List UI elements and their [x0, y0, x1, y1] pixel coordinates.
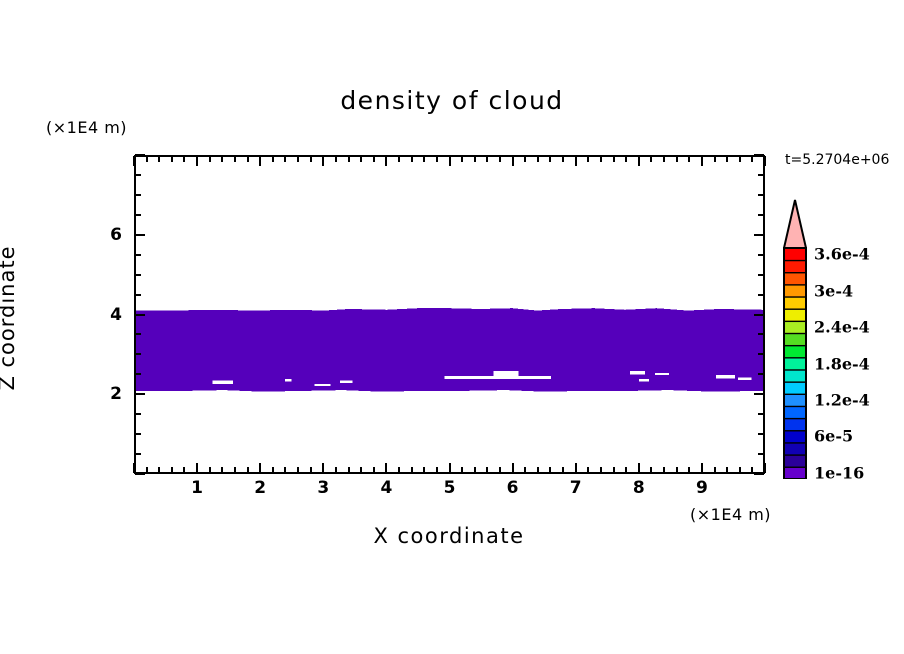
x-tick [676, 467, 678, 473]
x-tick [335, 156, 337, 162]
x-axis-unit-label: (×1E4 m) [690, 505, 771, 524]
y-tick [135, 353, 141, 355]
x-tick [297, 467, 299, 473]
y-tick [135, 234, 145, 236]
time-annotation: t=5.2704e+06 [785, 152, 889, 168]
x-tick [284, 467, 286, 473]
x-tick [310, 156, 312, 162]
y-tick [758, 194, 764, 196]
x-tick [587, 156, 589, 162]
y-tick [135, 154, 145, 156]
x-tick [133, 463, 135, 473]
x-tick [398, 467, 400, 473]
x-tick [549, 156, 551, 162]
colorbar[interactable] [783, 199, 807, 479]
x-tick [209, 156, 211, 162]
x-tick [385, 463, 387, 473]
cloud-void [444, 376, 551, 379]
x-tick-label: 9 [696, 478, 708, 498]
x-tick [158, 467, 160, 473]
colorbar-band [784, 297, 806, 310]
x-tick [272, 156, 274, 162]
x-tick [474, 467, 476, 473]
x-tick [764, 156, 766, 166]
x-tick [436, 467, 438, 473]
x-tick [398, 156, 400, 162]
y-tick [758, 274, 764, 276]
y-tick [758, 333, 764, 335]
x-tick [310, 467, 312, 473]
colorbar-tick-label: 3.6e-4 [814, 245, 870, 264]
colorbar-band [784, 284, 806, 297]
colorbar-band [784, 382, 806, 395]
y-tick [758, 433, 764, 435]
x-tick [600, 156, 602, 162]
colorbar-tick-label: 3e-4 [814, 281, 853, 300]
x-tick [638, 463, 640, 473]
x-tick [411, 156, 413, 162]
x-axis-title: X coordinate [234, 524, 664, 548]
y-tick [754, 393, 764, 395]
x-tick [436, 156, 438, 162]
x-tick [373, 156, 375, 162]
x-tick [549, 467, 551, 473]
colorbar-band [784, 345, 806, 358]
colorbar-band [784, 321, 806, 334]
x-tick [449, 463, 451, 473]
x-tick [196, 156, 198, 166]
colorbar-overflow-arrow [784, 200, 806, 248]
x-tick [739, 156, 741, 162]
cloud-slab [136, 308, 763, 391]
cloud-void [630, 371, 645, 374]
x-tick [335, 467, 337, 473]
x-tick [688, 156, 690, 162]
y-tick-label: 4 [92, 305, 122, 325]
x-tick [146, 467, 148, 473]
page-title: density of cloud [0, 86, 904, 115]
colorbar-band [784, 333, 806, 346]
cloud-void [285, 379, 291, 381]
x-tick [524, 467, 526, 473]
x-tick [726, 467, 728, 473]
x-tick [474, 156, 476, 162]
y-tick [754, 473, 764, 475]
y-tick [754, 234, 764, 236]
x-tick [259, 156, 261, 166]
x-tick [360, 156, 362, 162]
colorbar-tick-label: 1e-16 [814, 463, 864, 482]
x-tick [625, 156, 627, 162]
y-tick [758, 174, 764, 176]
x-tick-label: 4 [380, 478, 392, 498]
x-tick [272, 467, 274, 473]
x-tick [486, 156, 488, 162]
x-tick [146, 156, 148, 162]
y-tick [758, 294, 764, 296]
colorbar-tick-label: 6e-5 [814, 427, 853, 446]
x-tick [234, 156, 236, 162]
x-tick [650, 467, 652, 473]
x-tick [221, 156, 223, 162]
colorbar-tick-label: 1.8e-4 [814, 354, 870, 373]
colorbar-band [784, 443, 806, 456]
colorbar-band [784, 467, 806, 479]
x-tick [183, 156, 185, 162]
cloud-void [639, 379, 649, 381]
x-tick [171, 467, 173, 473]
x-tick [385, 156, 387, 166]
y-tick [135, 254, 141, 256]
x-tick [701, 463, 703, 473]
x-tick [537, 156, 539, 162]
colorbar-band [784, 370, 806, 383]
x-tick-label: 7 [570, 478, 582, 498]
cloud-void [212, 381, 233, 384]
y-tick [135, 274, 141, 276]
colorbar-band [784, 418, 806, 431]
heatmap-canvas [136, 157, 763, 472]
x-tick [499, 467, 501, 473]
y-tick-label: 2 [92, 384, 122, 404]
x-tick [348, 156, 350, 162]
plot-area [134, 155, 765, 474]
x-tick [259, 463, 261, 473]
y-tick [758, 254, 764, 256]
colorbar-band [784, 272, 806, 285]
x-tick [714, 467, 716, 473]
x-tick [171, 156, 173, 162]
x-tick [575, 463, 577, 473]
x-tick [650, 156, 652, 162]
colorbar-tick-label: 1.2e-4 [814, 391, 870, 410]
y-tick [758, 214, 764, 216]
x-tick [234, 467, 236, 473]
x-tick [676, 156, 678, 162]
y-tick [754, 154, 764, 156]
y-tick [758, 373, 764, 375]
y-tick [135, 314, 145, 316]
x-tick [297, 156, 299, 162]
x-tick [461, 156, 463, 162]
colorbar-band [784, 309, 806, 322]
y-tick [135, 393, 145, 395]
x-tick [524, 156, 526, 162]
x-tick [663, 156, 665, 162]
y-tick [135, 433, 141, 435]
x-tick [499, 156, 501, 162]
colorbar-band [784, 430, 806, 443]
x-tick [284, 156, 286, 162]
y-tick [754, 314, 764, 316]
x-tick [701, 156, 703, 166]
x-tick-label: 8 [633, 478, 645, 498]
x-tick [423, 156, 425, 162]
y-tick [135, 373, 141, 375]
y-tick [758, 453, 764, 455]
cloud-void [655, 373, 669, 375]
x-tick [751, 156, 753, 162]
x-tick [461, 467, 463, 473]
colorbar-band [784, 260, 806, 273]
x-tick [714, 156, 716, 162]
x-tick [688, 467, 690, 473]
x-tick [348, 467, 350, 473]
x-tick [247, 156, 249, 162]
x-tick [158, 156, 160, 162]
y-tick [135, 174, 141, 176]
colorbar-band [784, 357, 806, 370]
x-tick [613, 156, 615, 162]
x-tick [663, 467, 665, 473]
cloud-void [493, 371, 518, 376]
x-tick [247, 467, 249, 473]
colorbar-band [784, 455, 806, 468]
y-tick [135, 453, 141, 455]
x-tick-label: 5 [444, 478, 456, 498]
x-tick [486, 467, 488, 473]
colorbar-band [784, 248, 806, 261]
x-tick-label: 6 [507, 478, 519, 498]
x-tick [322, 156, 324, 166]
y-tick-label: 6 [92, 225, 122, 245]
x-tick [562, 156, 564, 162]
x-tick [322, 463, 324, 473]
x-tick [221, 467, 223, 473]
x-tick [423, 467, 425, 473]
x-tick [449, 156, 451, 166]
figure-root: density of cloud (×1E4 m) (×1E4 m) Z coo… [0, 0, 904, 654]
x-tick [183, 467, 185, 473]
x-tick [726, 156, 728, 162]
colorbar-band [784, 394, 806, 407]
x-tick [613, 467, 615, 473]
y-axis-unit-label: (×1E4 m) [46, 118, 127, 137]
x-tick [373, 467, 375, 473]
x-tick [575, 156, 577, 166]
x-tick [411, 467, 413, 473]
x-tick [600, 467, 602, 473]
y-tick [135, 214, 141, 216]
x-tick [638, 156, 640, 166]
cloud-void [315, 384, 331, 386]
y-tick [135, 294, 141, 296]
x-tick-label: 3 [317, 478, 329, 498]
cloud-void [340, 381, 353, 383]
y-tick [758, 413, 764, 415]
y-tick [135, 413, 141, 415]
x-tick [537, 467, 539, 473]
colorbar-band [784, 406, 806, 419]
x-tick [360, 467, 362, 473]
x-tick [512, 463, 514, 473]
x-tick-label: 1 [191, 478, 203, 498]
x-tick [625, 467, 627, 473]
x-tick [196, 463, 198, 473]
y-tick [135, 333, 141, 335]
colorbar-tick-label: 2.4e-4 [814, 318, 870, 337]
y-tick [758, 353, 764, 355]
x-tick-label: 2 [254, 478, 266, 498]
cloud-void [738, 378, 752, 380]
cloud-void [716, 375, 735, 378]
x-tick [512, 156, 514, 166]
x-tick [133, 156, 135, 166]
y-tick [135, 194, 141, 196]
x-tick [587, 467, 589, 473]
x-tick [739, 467, 741, 473]
y-axis-title: Z coordinate [0, 228, 19, 408]
y-tick [135, 473, 145, 475]
x-tick [764, 463, 766, 473]
x-tick [562, 467, 564, 473]
x-tick [209, 467, 211, 473]
